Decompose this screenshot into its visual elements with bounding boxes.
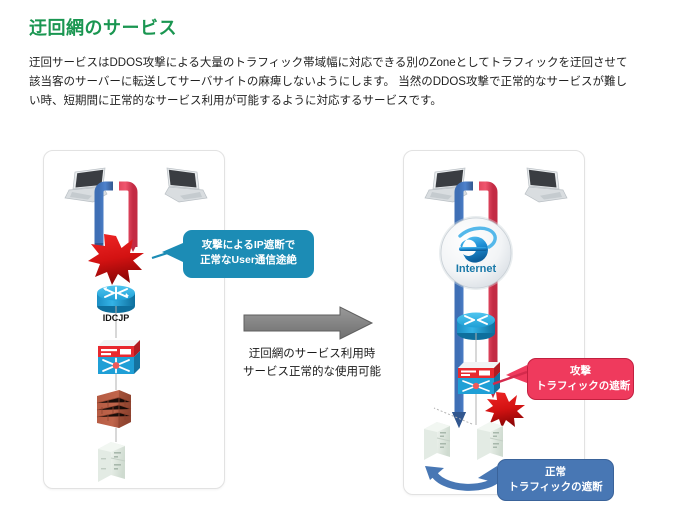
callout-teal-line-1: 攻撃によるIP遮断で — [192, 238, 305, 253]
callout-normal-traffic-block: 正常 トラフィックの遮断 — [497, 459, 614, 501]
page-root: 迂回網のサービス 迂回サービスはDDOS攻撃による大量のトラフィック帯域幅に対応… — [0, 0, 680, 525]
page-title: 迂回網のサービス — [29, 14, 177, 40]
description-paragraph: 迂回サービスはDDOS攻撃による大量のトラフィック帯域幅に対応できる別のZone… — [29, 54, 647, 111]
callout-blue-line-1: 正常 — [506, 465, 605, 480]
center-arrow-caption: 迂回網のサービス利用時 サービス正常的な使用可能 — [222, 345, 402, 381]
callout-red-line-1: 攻撃 — [536, 364, 625, 379]
description-line-1: 迂回サービスはDDOS攻撃による大量のトラフィック帯域幅に対応できる別のZone… — [29, 54, 647, 73]
center-arrow-caption-line-1: 迂回網のサービス利用時 — [222, 345, 402, 363]
description-line-2: 該当客のサーバーに転送してサーバサイトの麻痺しないようにします。 当然のDDOS… — [29, 73, 647, 92]
gray-right-arrow-icon — [244, 307, 372, 339]
callout-blue-line-2: トラフィックの遮断 — [506, 480, 605, 495]
description-line-3: い時、短期間に正常的なサービス利用が可能するように対応するサービスです。 — [29, 92, 647, 111]
callout-red-line-2: トラフィックの遮断 — [536, 379, 625, 394]
center-arrow-caption-line-2: サービス正常的な使用可能 — [222, 363, 402, 381]
right-diagram-panel — [403, 150, 585, 495]
callout-attack-traffic-block: 攻撃 トラフィックの遮断 — [527, 358, 634, 400]
internet-label: Internet — [436, 263, 516, 275]
router-label-idcjp: IDCJP — [94, 313, 138, 323]
callout-teal-line-2: 正常なUser通信途絶 — [192, 253, 305, 268]
callout-attack-ip-block: 攻撃によるIP遮断で 正常なUser通信途絶 — [183, 230, 314, 278]
center-arrow-graphics — [244, 307, 372, 339]
